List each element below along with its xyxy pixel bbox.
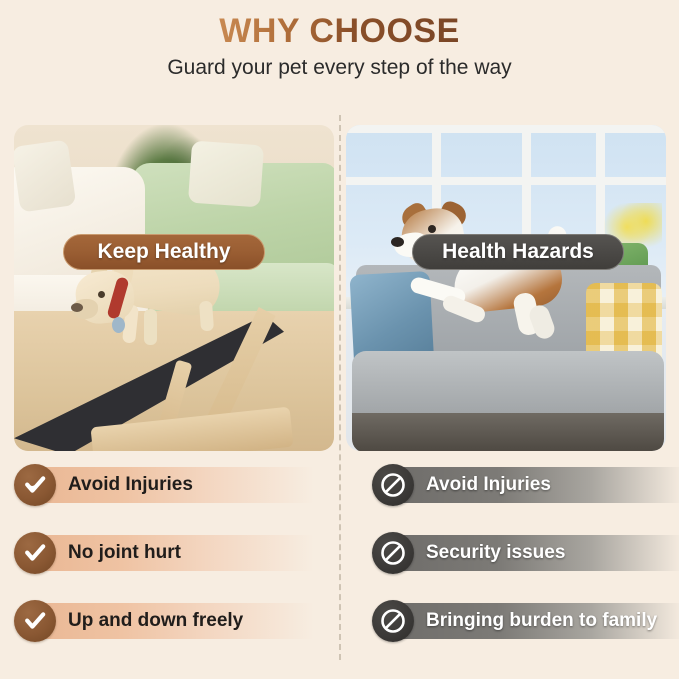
list-item: Bringing burden to family <box>372 598 679 644</box>
badge-health-hazards-label: Health Hazards <box>442 240 594 264</box>
badge-keep-healthy-label: Keep Healthy <box>97 240 230 264</box>
badge-keep-healthy: Keep Healthy <box>63 234 265 270</box>
terrier-nose <box>391 237 404 247</box>
keep-healthy-photo <box>14 125 334 451</box>
benefit-label: Avoid Injuries <box>68 474 193 496</box>
ban-icon <box>372 600 414 642</box>
check-icon <box>14 532 56 574</box>
bulldog-eye <box>98 291 105 298</box>
hazard-label: Security issues <box>426 542 565 564</box>
bulldog-nose <box>71 303 83 312</box>
page-subtitle: Guard your pet every step of the way <box>0 53 679 83</box>
health-hazards-photo <box>346 125 666 451</box>
hazard-label: Bringing burden to family <box>426 610 657 632</box>
gray-sofa-base <box>352 413 664 451</box>
badge-health-hazards: Health Hazards <box>412 234 624 270</box>
hazard-label: Avoid Injuries <box>426 474 551 496</box>
list-item: Avoid Injuries <box>372 462 679 508</box>
terrier-eye <box>428 225 436 233</box>
benefit-label: Up and down freely <box>68 610 243 632</box>
window-transom-rail <box>346 177 666 185</box>
hazards-list: Avoid Injuries Security issues Bringing … <box>372 462 679 666</box>
living-room-scene <box>14 125 334 451</box>
page-title: WHY CHOOSE <box>219 11 460 51</box>
list-item: Avoid Injuries <box>14 462 344 508</box>
ban-icon <box>372 464 414 506</box>
list-item: Security issues <box>372 530 679 576</box>
bulldog-mid-leg <box>144 309 157 345</box>
page-header: WHY CHOOSE Guard your pet every step of … <box>0 0 679 83</box>
ban-icon <box>372 532 414 574</box>
bulldog-collar-tag <box>112 317 125 333</box>
window-header-rail <box>346 125 666 133</box>
check-icon <box>14 600 56 642</box>
list-item: No joint hurt <box>14 530 344 576</box>
floral-pillow-left <box>14 139 76 212</box>
benefits-list: Avoid Injuries No joint hurt Up and down… <box>14 462 344 666</box>
comparison-columns: Keep Healthy Health Hazards <box>0 125 679 455</box>
sofa-jump-scene <box>346 125 666 451</box>
bulldog-hind-leg <box>199 301 214 332</box>
check-icon <box>14 464 56 506</box>
list-item: Up and down freely <box>14 598 344 644</box>
floral-pillow-right <box>188 141 264 208</box>
benefit-label: No joint hurt <box>68 542 181 564</box>
